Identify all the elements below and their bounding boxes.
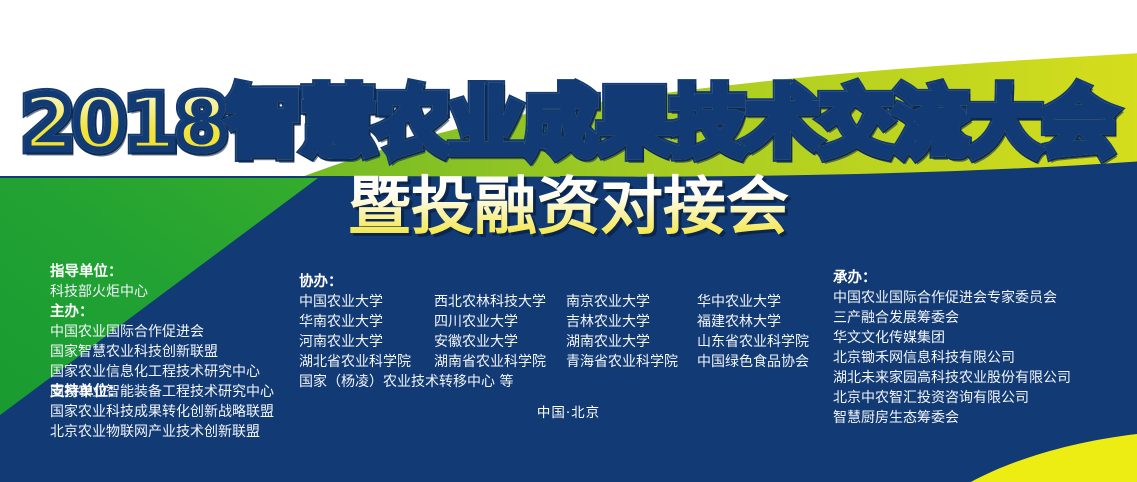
coorganizer-item: 福建农林大学: [697, 312, 809, 332]
coorganizer-item: 河南农业大学: [299, 332, 411, 352]
coorganizer-item: 西北农林科技大学: [434, 292, 546, 312]
coorganizers-heading: 协办：: [299, 272, 343, 292]
organizer-item: 北京锄禾网信息科技有限公司: [833, 348, 1071, 368]
coorganizer-footer-item: 国家（杨凌）农业技术转移中心 等: [299, 372, 513, 392]
host-item: 中国农业国际合作促进会: [50, 322, 274, 342]
coorganizer-item: 吉林农业大学: [566, 312, 678, 332]
coorganizer-item: 华南农业大学: [299, 312, 411, 332]
coorganizer-item: 华中农业大学: [697, 292, 809, 312]
coorganizer-item: 南京农业大学: [566, 292, 678, 312]
coorganizer-item: 青海省农业科学院: [566, 352, 678, 372]
host-item: 国家智慧农业科技创新联盟: [50, 342, 274, 362]
event-poster: 2018智慧农业成果技术交流大会 2018智慧农业成果技术交流大会 暨投融资对接…: [0, 0, 1137, 482]
organizer-item: 三产融合发展筹委会: [833, 308, 1071, 328]
coorganizers-footer: 国家（杨凌）农业技术转移中心 等: [299, 372, 513, 392]
location-text: 中国·北京: [0, 403, 1137, 423]
coorganizer-item: 山东省农业科学院: [697, 332, 809, 352]
coorganizers-column: 南京农业大学 吉林农业大学 湖南农业大学 青海省农业科学院: [566, 292, 678, 372]
guidance-item: 科技部火炬中心: [50, 282, 148, 302]
coorganizers-column: 西北农林科技大学 四川农业大学 安徽农业大学 湖南省农业科学院: [434, 292, 546, 372]
coorganizer-item: 安徽农业大学: [434, 332, 546, 352]
coorganizers-column: 华中农业大学 福建农林大学 山东省农业科学院 中国绿色食品协会: [697, 292, 809, 372]
organizers-heading: 承办：: [833, 268, 877, 288]
organizers-heading-block: 承办：: [833, 268, 877, 288]
coorganizer-item: 中国绿色食品协会: [697, 352, 809, 372]
coorganizer-item: 四川农业大学: [434, 312, 546, 332]
host-heading: 主办：: [50, 302, 274, 322]
support-heading: 支持单位：: [50, 382, 274, 402]
credits-area: 指导单位： 科技部火炬中心 主办： 中国农业国际合作促进会 国家智慧农业科技创新…: [0, 0, 1137, 482]
guidance-heading: 指导单位：: [50, 262, 148, 282]
organizer-item: 湖北未来家园高科技农业股份有限公司: [833, 368, 1071, 388]
host-item: 国家农业信息化工程技术研究中心: [50, 362, 274, 382]
coorganizer-item: 湖南省农业科学院: [434, 352, 546, 372]
coorganizer-item: 中国农业大学: [299, 292, 411, 312]
support-item: 北京农业物联网产业技术创新联盟: [50, 422, 274, 442]
coorganizers-heading-block: 协办：: [299, 272, 343, 292]
coorganizer-item: 湖北省农业科学院: [299, 352, 411, 372]
coorganizer-item: 湖南农业大学: [566, 332, 678, 352]
organizer-item: 中国农业国际合作促进会专家委员会: [833, 288, 1071, 308]
coorganizers-column: 中国农业大学 华南农业大学 河南农业大学 湖北省农业科学院: [299, 292, 411, 372]
guidance-block: 指导单位： 科技部火炬中心: [50, 262, 148, 302]
organizer-item: 华文文化传媒集团: [833, 328, 1071, 348]
